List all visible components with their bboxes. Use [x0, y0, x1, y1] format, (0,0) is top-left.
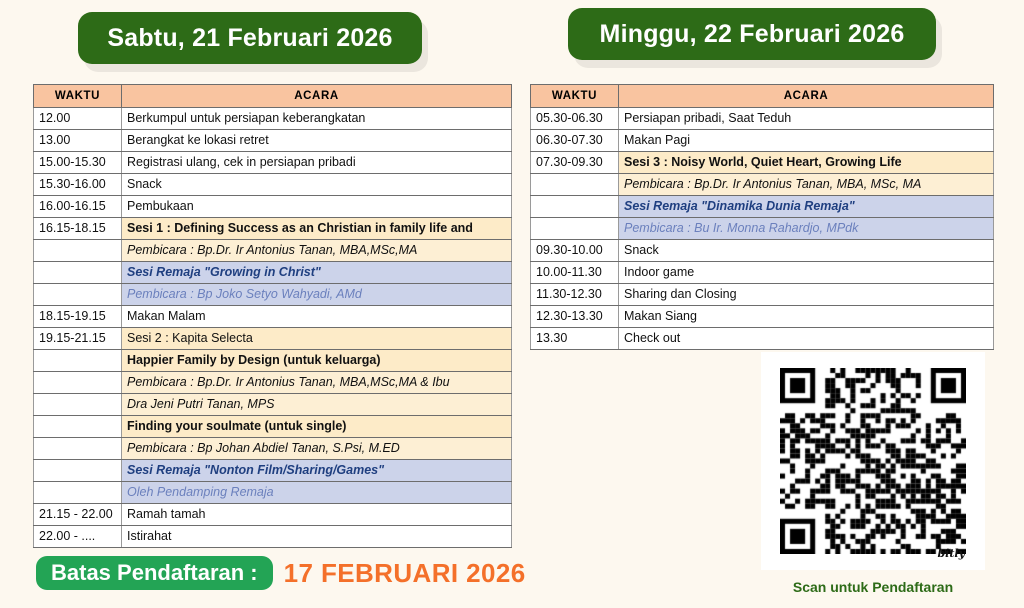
cell-event: Sesi 1 : Defining Success as an Christia…	[122, 218, 512, 240]
registration-deadline-banner: Batas Pendaftaran : 17 FEBRUARI 2026	[36, 556, 526, 590]
table-row: 13.00Berangkat ke lokasi retret	[34, 130, 512, 152]
cell-event: Finding your soulmate (untuk single)	[122, 416, 512, 438]
cell-event: Makan Pagi	[619, 130, 994, 152]
table-row: 19.15-21.15Sesi 2 : Kapita Selecta	[34, 328, 512, 350]
cell-event: Berkumpul untuk persiapan keberangkatan	[122, 108, 512, 130]
table-row: 10.00-11.30Indoor game	[531, 262, 994, 284]
cell-event: Makan Malam	[122, 306, 512, 328]
table-row: Dra Jeni Putri Tanan, MPS	[34, 394, 512, 416]
table-row: 07.30-09.30Sesi 3 : Noisy World, Quiet H…	[531, 152, 994, 174]
cell-event: Berangkat ke lokasi retret	[122, 130, 512, 152]
deadline-date-text: 17 FEBRUARI 2026	[284, 558, 526, 589]
cell-time	[34, 284, 122, 306]
cell-time	[34, 482, 122, 504]
cell-time: 15.00-15.30	[34, 152, 122, 174]
cell-event: Dra Jeni Putri Tanan, MPS	[122, 394, 512, 416]
table-row: Sesi Remaja "Nonton Film/Sharing/Games"	[34, 460, 512, 482]
qr-code-icon[interactable]	[780, 368, 966, 554]
cell-event: Pembukaan	[122, 196, 512, 218]
cell-event: Pembicara : Bp.Dr. Ir Antonius Tanan, MB…	[122, 240, 512, 262]
day2-title-pill: Minggu, 22 Februari 2026	[568, 8, 936, 60]
table-row: 13.30Check out	[531, 328, 994, 350]
cell-time: 05.30-06.30	[531, 108, 619, 130]
cell-time: 18.15-19.15	[34, 306, 122, 328]
cell-event: Snack	[619, 240, 994, 262]
cell-time	[34, 416, 122, 438]
table-row: 15.30-16.00Snack	[34, 174, 512, 196]
cell-event: Sesi 3 : Noisy World, Quiet Heart, Growi…	[619, 152, 994, 174]
cell-time: 12.30-13.30	[531, 306, 619, 328]
cell-time: 19.15-21.15	[34, 328, 122, 350]
table-row: 22.00 - ....Istirahat	[34, 526, 512, 548]
table-row: Pembicara : Bp.Dr. Ir Antonius Tanan, MB…	[34, 372, 512, 394]
column-header-time: WAKTU	[34, 85, 122, 108]
column-header-event: ACARA	[619, 85, 994, 108]
cell-event: Registrasi ulang, cek in persiapan priba…	[122, 152, 512, 174]
table-row: 05.30-06.30Persiapan pribadi, Saat Teduh	[531, 108, 994, 130]
cell-event: Persiapan pribadi, Saat Teduh	[619, 108, 994, 130]
cell-event: Oleh Pendamping Remaja	[122, 482, 512, 504]
cell-time	[34, 372, 122, 394]
cell-event: Pembicara : Bp.Dr. Ir Antonius Tanan, MB…	[619, 174, 994, 196]
cell-time: 15.30-16.00	[34, 174, 122, 196]
cell-time	[34, 438, 122, 460]
qr-card: bitly	[761, 352, 985, 570]
cell-event: Sharing dan Closing	[619, 284, 994, 306]
day1-title-pill: Sabtu, 21 Februari 2026	[78, 12, 422, 64]
table-row: Pembicara : Bp.Dr. Ir Antonius Tanan, MB…	[531, 174, 994, 196]
cell-event: Snack	[122, 174, 512, 196]
cell-time: 22.00 - ....	[34, 526, 122, 548]
cell-event: Pembicara : Bp.Dr. Ir Antonius Tanan, MB…	[122, 372, 512, 394]
table-row: 12.00Berkumpul untuk persiapan keberangk…	[34, 108, 512, 130]
cell-time	[34, 460, 122, 482]
table-row: 11.30-12.30Sharing dan Closing	[531, 284, 994, 306]
table-row: Finding your soulmate (untuk single)	[34, 416, 512, 438]
qr-caption: Scan untuk Pendaftaran	[761, 579, 985, 595]
table-row: Sesi Remaja "Dinamika Dunia Remaja"	[531, 196, 994, 218]
column-header-time: WAKTU	[531, 85, 619, 108]
qr-brand-label: bitly	[937, 547, 965, 560]
cell-time: 06.30-07.30	[531, 130, 619, 152]
table-row: Pembicara : Bp Joko Setyo Wahyadi, AMd	[34, 284, 512, 306]
table-header-row: WAKTU ACARA	[531, 85, 994, 108]
cell-event: Makan Siang	[619, 306, 994, 328]
table-row: Pembicara : Bp.Dr. Ir Antonius Tanan, MB…	[34, 240, 512, 262]
day1-title-text: Sabtu, 21 Februari 2026	[107, 24, 392, 53]
cell-event: Istirahat	[122, 526, 512, 548]
table-row: Pembicara : Bp Johan Abdiel Tanan, S.Psi…	[34, 438, 512, 460]
cell-time: 13.30	[531, 328, 619, 350]
registration-qr-block: bitly Scan untuk Pendaftaran	[761, 352, 985, 595]
cell-event: Pembicara : Bp Joko Setyo Wahyadi, AMd	[122, 284, 512, 306]
day2-table-body: 05.30-06.30Persiapan pribadi, Saat Teduh…	[531, 108, 994, 350]
cell-time: 21.15 - 22.00	[34, 504, 122, 526]
cell-time: 13.00	[34, 130, 122, 152]
cell-time: 11.30-12.30	[531, 284, 619, 306]
table-header-row: WAKTU ACARA	[34, 85, 512, 108]
table-row: Sesi Remaja "Growing in Christ"	[34, 262, 512, 284]
cell-time	[34, 394, 122, 416]
cell-event: Ramah tamah	[122, 504, 512, 526]
cell-time	[34, 262, 122, 284]
cell-time	[531, 174, 619, 196]
column-header-event: ACARA	[122, 85, 512, 108]
day1-table-body: 12.00Berkumpul untuk persiapan keberangk…	[34, 108, 512, 548]
cell-time: 07.30-09.30	[531, 152, 619, 174]
cell-time: 16.00-16.15	[34, 196, 122, 218]
table-row: 09.30-10.00Snack	[531, 240, 994, 262]
table-row: 21.15 - 22.00Ramah tamah	[34, 504, 512, 526]
table-row: Pembicara : Bu Ir. Monna Rahardjo, MPdk	[531, 218, 994, 240]
table-row: 15.00-15.30Registrasi ulang, cek in pers…	[34, 152, 512, 174]
cell-event: Sesi Remaja "Growing in Christ"	[122, 262, 512, 284]
table-row: 12.30-13.30Makan Siang	[531, 306, 994, 328]
cell-time	[34, 350, 122, 372]
day1-schedule-table: WAKTU ACARA 12.00Berkumpul untuk persiap…	[33, 84, 512, 548]
cell-event: Pembicara : Bp Johan Abdiel Tanan, S.Psi…	[122, 438, 512, 460]
cell-event: Check out	[619, 328, 994, 350]
cell-event: Pembicara : Bu Ir. Monna Rahardjo, MPdk	[619, 218, 994, 240]
cell-time: 12.00	[34, 108, 122, 130]
cell-event: Sesi Remaja "Nonton Film/Sharing/Games"	[122, 460, 512, 482]
cell-time: 10.00-11.30	[531, 262, 619, 284]
table-row: 06.30-07.30Makan Pagi	[531, 130, 994, 152]
cell-time	[34, 240, 122, 262]
cell-event: Indoor game	[619, 262, 994, 284]
table-row: Oleh Pendamping Remaja	[34, 482, 512, 504]
cell-event: Sesi Remaja "Dinamika Dunia Remaja"	[619, 196, 994, 218]
table-row: 16.00-16.15Pembukaan	[34, 196, 512, 218]
table-row: Happier Family by Design (untuk keluarga…	[34, 350, 512, 372]
cell-event: Happier Family by Design (untuk keluarga…	[122, 350, 512, 372]
cell-time: 16.15-18.15	[34, 218, 122, 240]
table-row: 16.15-18.15Sesi 1 : Defining Success as …	[34, 218, 512, 240]
table-row: 18.15-19.15Makan Malam	[34, 306, 512, 328]
day2-title-text: Minggu, 22 Februari 2026	[600, 20, 905, 49]
cell-time	[531, 218, 619, 240]
deadline-label-pill: Batas Pendaftaran :	[36, 556, 273, 590]
day2-schedule-table: WAKTU ACARA 05.30-06.30Persiapan pribadi…	[530, 84, 994, 350]
cell-event: Sesi 2 : Kapita Selecta	[122, 328, 512, 350]
cell-time: 09.30-10.00	[531, 240, 619, 262]
cell-time	[531, 196, 619, 218]
